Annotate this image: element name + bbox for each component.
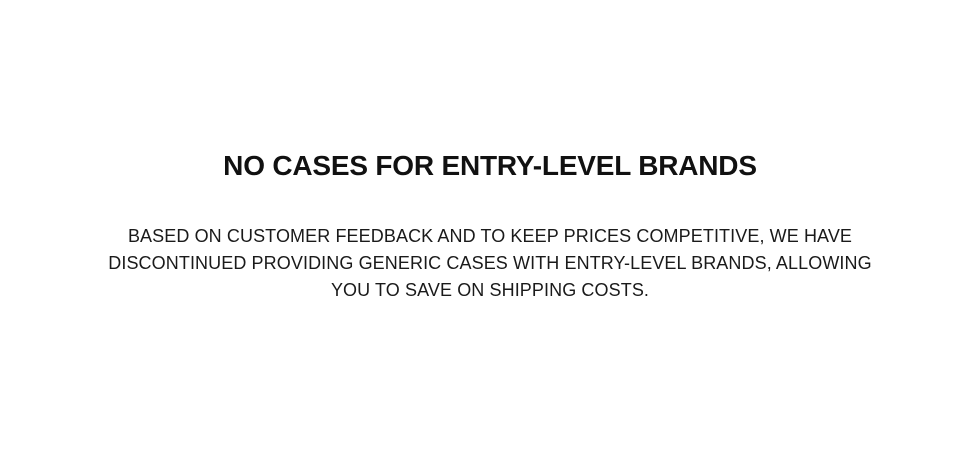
notice-description: BASED ON CUSTOMER FEEDBACK AND TO KEEP P…	[95, 223, 885, 304]
policy-notice-section: NO CASES FOR ENTRY-LEVEL BRANDS BASED ON…	[0, 0, 980, 450]
page-title: NO CASES FOR ENTRY-LEVEL BRANDS	[223, 152, 757, 180]
